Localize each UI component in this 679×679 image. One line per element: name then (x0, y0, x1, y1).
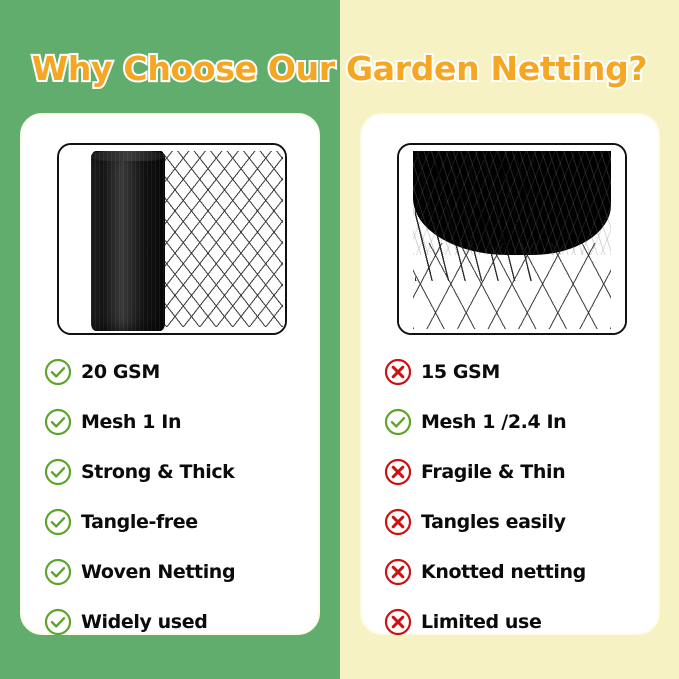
feature-label: Tangles easily (421, 511, 566, 533)
check-icon (44, 508, 72, 536)
comparison-infographic: Why Choose Our Garden Netting? 20 GSMMes… (0, 0, 679, 679)
feature-label: Limited use (421, 611, 541, 633)
netting-roll (91, 151, 165, 331)
cross-icon (384, 458, 412, 486)
left-product-card: 20 GSMMesh 1 InStrong & ThickTangle-free… (20, 113, 320, 635)
check-icon (44, 358, 72, 386)
page-title: Why Choose Our Garden Netting? (32, 49, 648, 88)
cross-icon (384, 508, 412, 536)
feature-label: Mesh 1 In (81, 411, 181, 433)
right-feature-list: 15 GSMMesh 1 /2.4 InFragile & ThinTangle… (384, 347, 648, 625)
woven-netting-photo (59, 145, 285, 333)
right-product-card: 15 GSMMesh 1 /2.4 InFragile & ThinTangle… (360, 113, 660, 635)
feature-row: 20 GSM (44, 347, 308, 397)
feature-label: Woven Netting (81, 561, 235, 583)
feature-row: Woven Netting (44, 547, 308, 597)
feature-row: Mesh 1 /2.4 In (384, 397, 648, 447)
check-icon (44, 408, 72, 436)
knotted-netting-photo (399, 145, 625, 333)
feature-row: 15 GSM (384, 347, 648, 397)
feature-row: Mesh 1 In (44, 397, 308, 447)
feature-label: Widely used (81, 611, 207, 633)
check-icon (44, 458, 72, 486)
cross-icon (384, 608, 412, 636)
feature-row: Tangle-free (44, 497, 308, 547)
feature-label: 15 GSM (421, 361, 500, 383)
feature-label: Mesh 1 /2.4 In (421, 411, 566, 433)
feature-row: Knotted netting (384, 547, 648, 597)
feature-row: Fragile & Thin (384, 447, 648, 497)
feature-label: Strong & Thick (81, 461, 234, 483)
cross-icon (384, 358, 412, 386)
feature-label: Fragile & Thin (421, 461, 565, 483)
left-feature-list: 20 GSMMesh 1 InStrong & ThickTangle-free… (44, 347, 308, 625)
left-image-frame (57, 143, 287, 335)
feature-row: Strong & Thick (44, 447, 308, 497)
wide-loose-mesh (413, 243, 611, 329)
tangled-netting-scene (413, 151, 611, 329)
check-icon (384, 408, 412, 436)
feature-row: Limited use (384, 597, 648, 647)
feature-label: Tangle-free (81, 511, 198, 533)
right-image-frame (397, 143, 627, 335)
check-icon (44, 608, 72, 636)
headline-banner: Why Choose Our Garden Netting? (0, 42, 679, 94)
feature-row: Widely used (44, 597, 308, 647)
feature-label: Knotted netting (421, 561, 586, 583)
feature-label: 20 GSM (81, 361, 160, 383)
feature-row: Tangles easily (384, 497, 648, 547)
check-icon (44, 558, 72, 586)
cross-icon (384, 558, 412, 586)
